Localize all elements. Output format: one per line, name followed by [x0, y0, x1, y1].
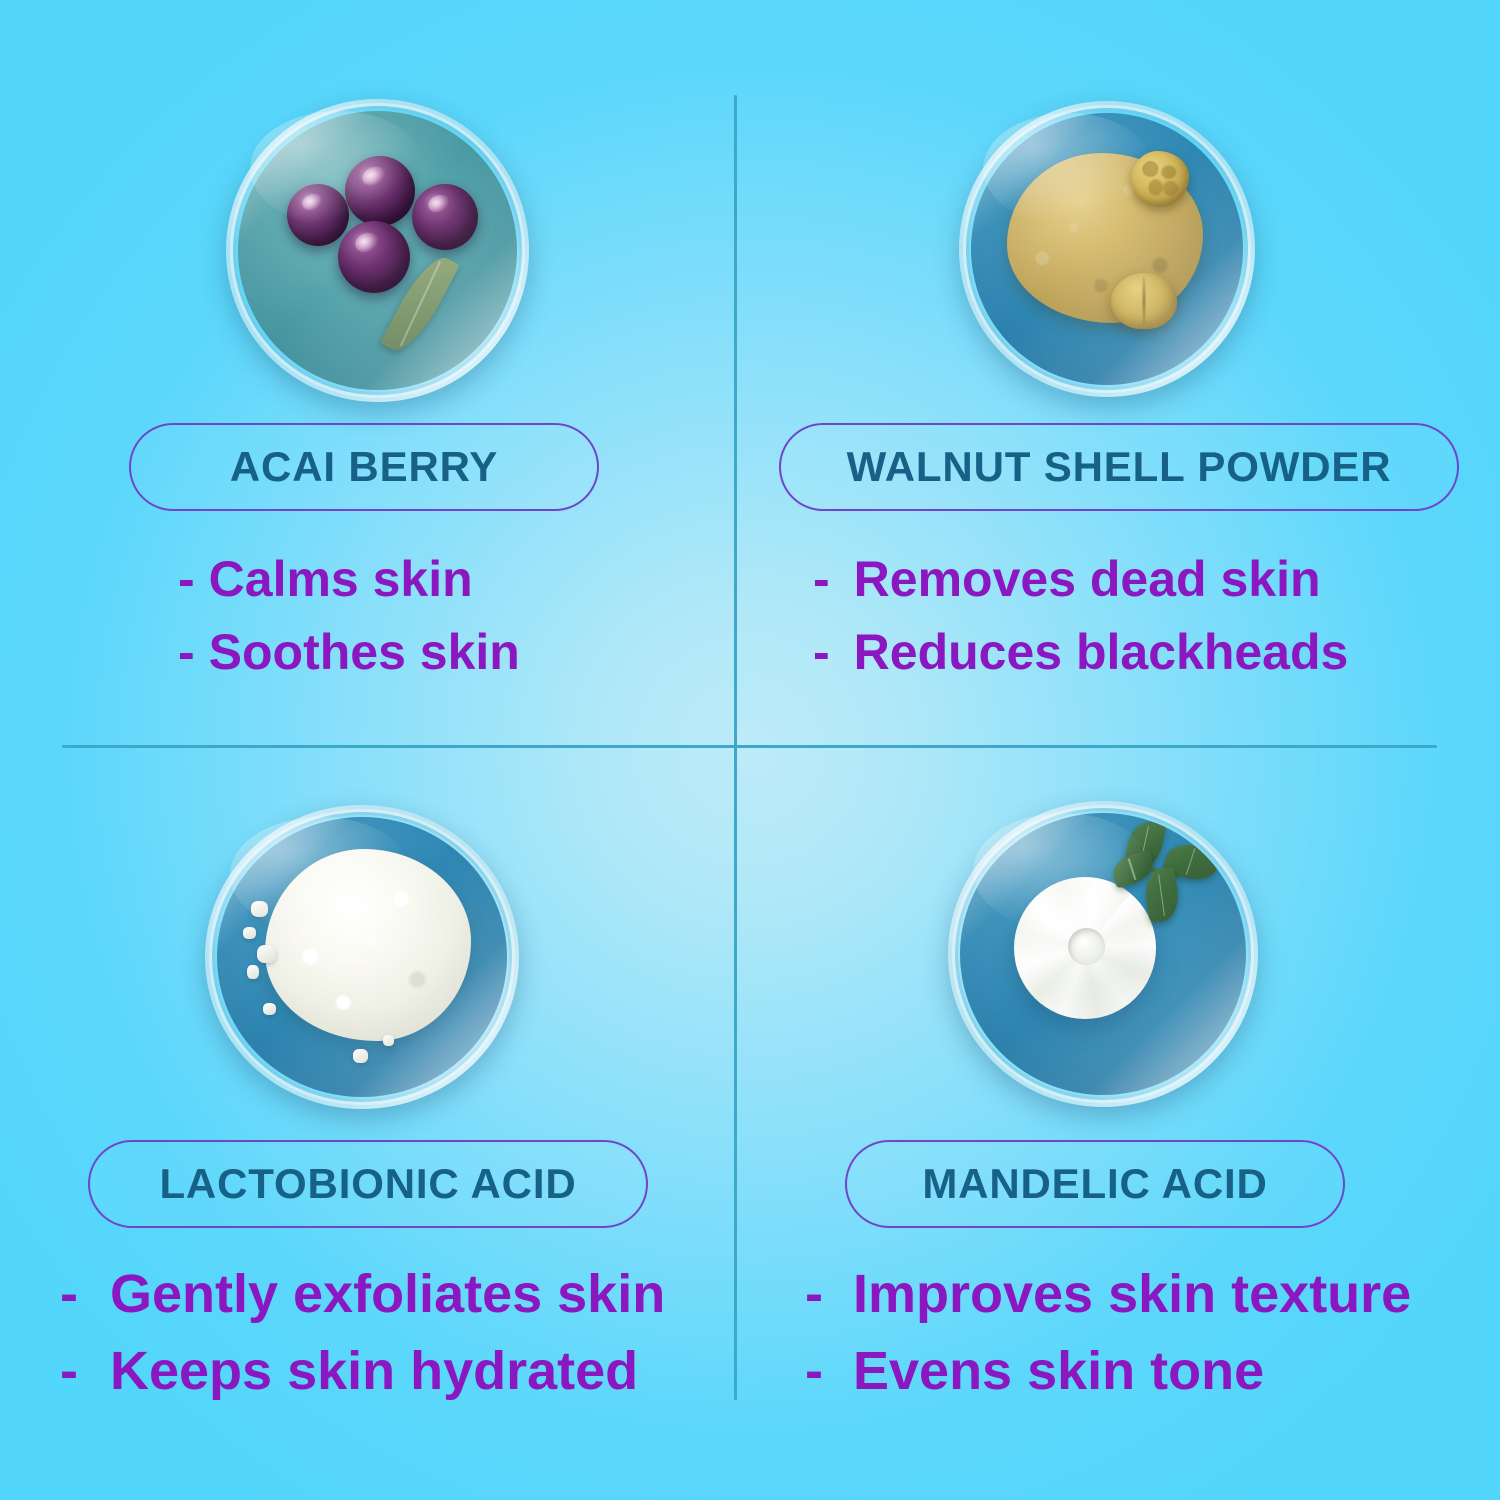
infographic-canvas: ACAI BERRY - Calms skin - Soothes skin [0, 0, 1500, 1500]
powder-crumb [247, 965, 259, 979]
acai-berry-petri-dish [226, 99, 529, 402]
bullet-item: - Improves skin texture [805, 1256, 1411, 1333]
bullet-label: Keeps skin hydrated [110, 1333, 638, 1410]
bullet-dash: - [805, 1256, 823, 1333]
cream-swirl [1014, 877, 1156, 1019]
bullet-label: Improves skin texture [853, 1256, 1411, 1333]
bullet-item: - Evens skin tone [805, 1333, 1411, 1410]
bullet-dash: - [178, 616, 195, 689]
acai-berry-4 [338, 221, 410, 293]
bullet-item: - Soothes skin [178, 616, 520, 689]
bullet-dash: - [813, 616, 830, 689]
mandelic-acid-cream-petri-dish [948, 801, 1258, 1107]
bullets-walnut-shell-powder: - Removes dead skin - Reduces blackheads [813, 543, 1348, 688]
pill-label-walnut-shell-powder: WALNUT SHELL POWDER [779, 423, 1459, 511]
pill-label-mandelic-acid: MANDELIC ACID [845, 1140, 1345, 1228]
acai-berry-2 [345, 156, 415, 226]
powder-crumb [251, 901, 268, 917]
walnut-whole [1111, 273, 1177, 329]
pill-label-acai-berry: ACAI BERRY [129, 423, 599, 511]
bullet-label: Soothes skin [209, 616, 520, 689]
bullet-item: - Removes dead skin [813, 543, 1348, 616]
pill-label-text: MANDELIC ACID [922, 1160, 1267, 1208]
bullets-lactobionic-acid: - Gently exfoliates skin - Keeps skin hy… [60, 1256, 665, 1409]
bullet-label: Gently exfoliates skin [110, 1256, 665, 1333]
bullet-label: Calms skin [209, 543, 473, 616]
bullet-label: Removes dead skin [854, 543, 1321, 616]
pill-label-lactobionic-acid: LACTOBIONIC ACID [88, 1140, 648, 1228]
bullet-label: Evens skin tone [853, 1333, 1264, 1410]
bullets-mandelic-acid: - Improves skin texture - Evens skin ton… [805, 1256, 1411, 1409]
lactobionic-powder-mound [265, 849, 471, 1041]
powder-crumb [353, 1049, 368, 1063]
bullet-dash: - [813, 543, 830, 616]
quadrant-acai-berry: ACAI BERRY - Calms skin - Soothes skin [0, 0, 735, 745]
bullet-dash: - [60, 1256, 78, 1333]
powder-crumb [243, 927, 256, 939]
bullet-item: - Calms skin [178, 543, 520, 616]
powder-crumb [383, 1035, 394, 1046]
bullet-label: Reduces blackheads [854, 616, 1349, 689]
pill-label-text: ACAI BERRY [230, 443, 498, 491]
bullet-dash: - [805, 1333, 823, 1410]
quadrant-mandelic-acid: MANDELIC ACID - Improves skin texture - … [737, 748, 1500, 1500]
walnut-shell-powder-petri-dish [959, 101, 1255, 397]
pill-label-text: LACTOBIONIC ACID [159, 1160, 576, 1208]
lactobionic-acid-powder-petri-dish [205, 805, 519, 1109]
pill-label-text: WALNUT SHELL POWDER [847, 443, 1392, 491]
bullet-item: - Gently exfoliates skin [60, 1256, 665, 1333]
quadrant-lactobionic-acid: LACTOBIONIC ACID - Gently exfoliates ski… [0, 748, 735, 1500]
powder-crumb [263, 1003, 276, 1015]
powder-crumb [257, 945, 276, 963]
bullet-item: - Keeps skin hydrated [60, 1333, 665, 1410]
bullets-acai-berry: - Calms skin - Soothes skin [178, 543, 520, 688]
bullet-item: - Reduces blackheads [813, 616, 1348, 689]
bullet-dash: - [178, 543, 195, 616]
acai-berry-1 [287, 184, 349, 246]
quadrant-walnut-shell-powder: WALNUT SHELL POWDER - Removes dead skin … [737, 0, 1500, 745]
bullet-dash: - [60, 1333, 78, 1410]
acai-berry-3 [412, 184, 478, 250]
